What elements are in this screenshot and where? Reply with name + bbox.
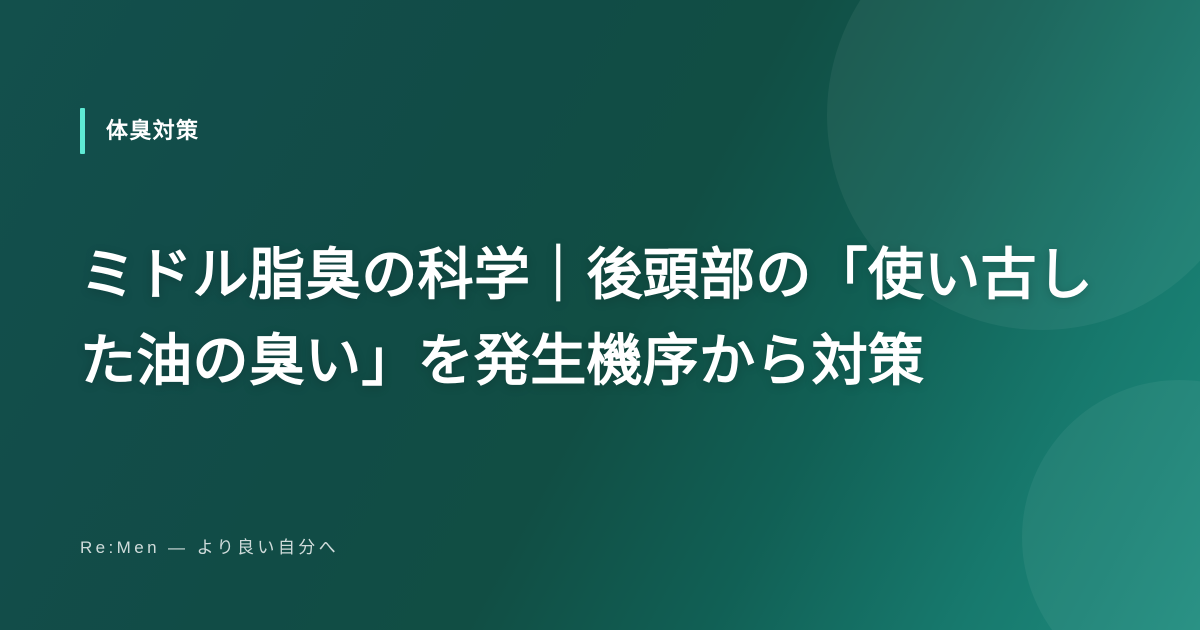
category-label: 体臭対策 <box>106 120 199 142</box>
og-card: 体臭対策 ミドル脂臭の科学｜後頭部の「使い古した油の臭い」を発生機序から対策 R… <box>0 0 1200 630</box>
category-accent-bar <box>80 108 85 154</box>
card-content: 体臭対策 ミドル脂臭の科学｜後頭部の「使い古した油の臭い」を発生機序から対策 R… <box>0 0 1200 630</box>
page-title: ミドル脂臭の科学｜後頭部の「使い古した油の臭い」を発生機序から対策 <box>80 232 1120 404</box>
site-branding: Re:Men — より良い自分へ <box>80 536 339 560</box>
category-badge: 体臭対策 <box>80 108 199 154</box>
